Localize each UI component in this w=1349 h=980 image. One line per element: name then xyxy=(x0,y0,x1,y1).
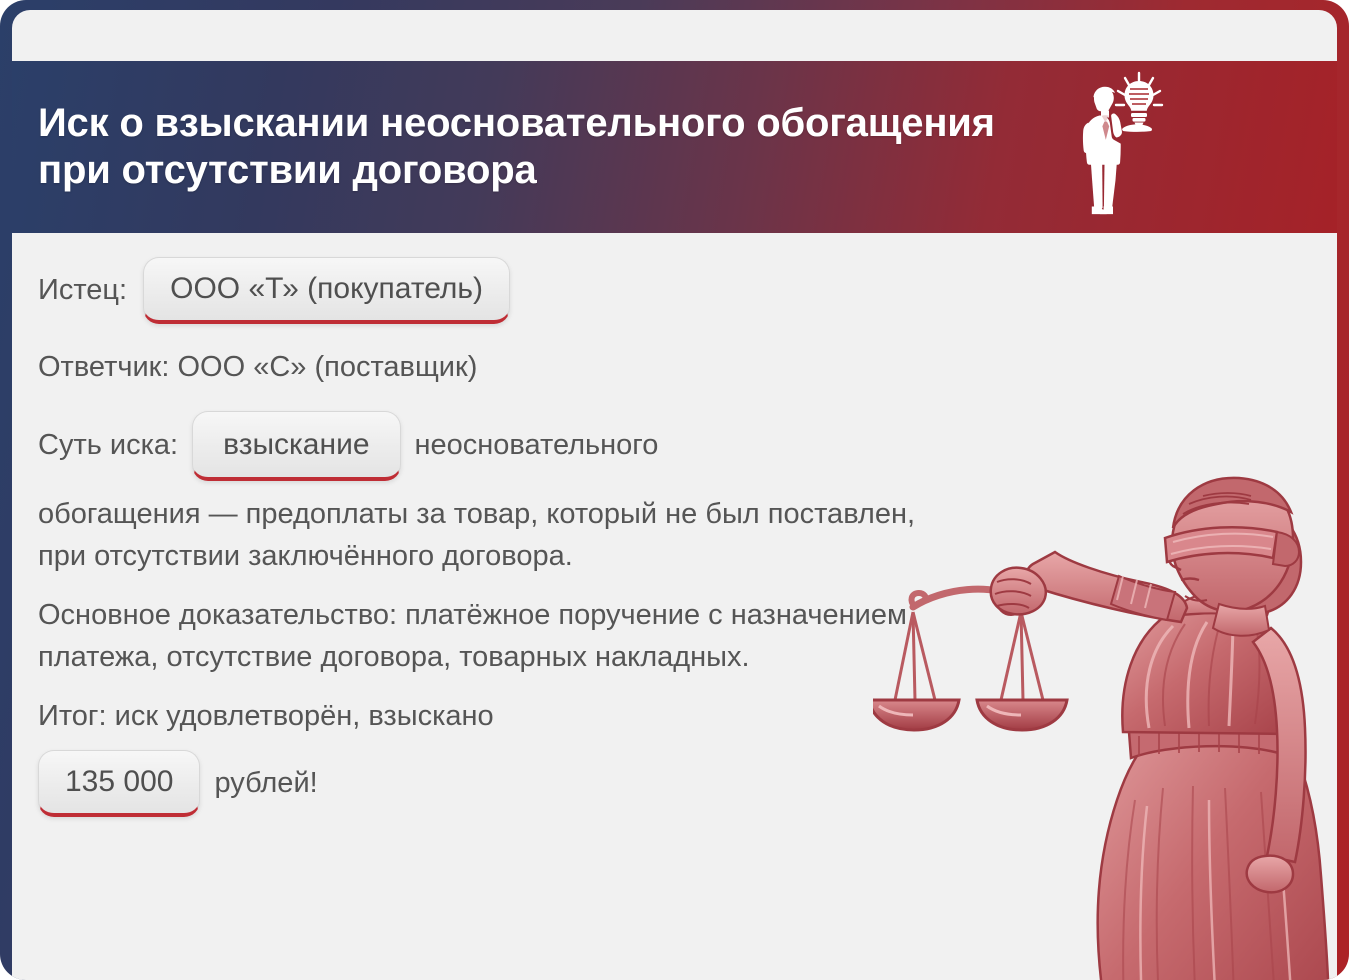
card-frame: Иск о взыскании неосновательного обогаще… xyxy=(0,0,1349,980)
plaintiff-row: Истец: ООО «Т» (покупатель) xyxy=(38,257,1311,324)
defendant-text: Ответчик: ООО «С» (поставщик) xyxy=(38,347,477,388)
businessman-with-lightbulb-icon xyxy=(1061,65,1169,225)
card-header: Иск о взыскании неосновательного обогаще… xyxy=(12,61,1337,233)
claim-row: Суть иска: взыскание неосновательного xyxy=(38,411,1311,482)
defendant-row: Ответчик: ООО «С» (поставщик) xyxy=(38,347,1311,388)
card-body: Истец: ООО «Т» (покупатель) Ответчик: ОО… xyxy=(12,233,1337,980)
claim-paragraph: обогащения — предоплаты за товар, которы… xyxy=(38,494,938,577)
plaintiff-label: Истец: xyxy=(38,270,127,311)
result-row: Итог: иск удовлетворён, взыскано xyxy=(38,696,1311,737)
result-label: Итог: иск удовлетворён, взыскано xyxy=(38,696,494,737)
evidence-paragraph: Основное доказательство: платёжное поруч… xyxy=(38,595,938,678)
content-panel: Иск о взыскании неосновательного обогаще… xyxy=(12,10,1337,980)
result-amount-row: 135 000 рублей! xyxy=(38,750,1311,817)
spacer xyxy=(38,401,1311,411)
claim-value-badge[interactable]: взыскание xyxy=(192,411,400,482)
result-currency-label: рублей! xyxy=(214,763,317,804)
result-amount-badge[interactable]: 135 000 xyxy=(38,750,200,817)
claim-label: Суть иска: xyxy=(38,425,178,466)
plaintiff-value-badge[interactable]: ООО «Т» (покупатель) xyxy=(143,257,510,324)
claim-tail-text: неосновательного xyxy=(415,425,659,466)
page-title: Иск о взыскании неосновательного обогаще… xyxy=(38,100,1038,194)
spacer xyxy=(38,337,1311,347)
